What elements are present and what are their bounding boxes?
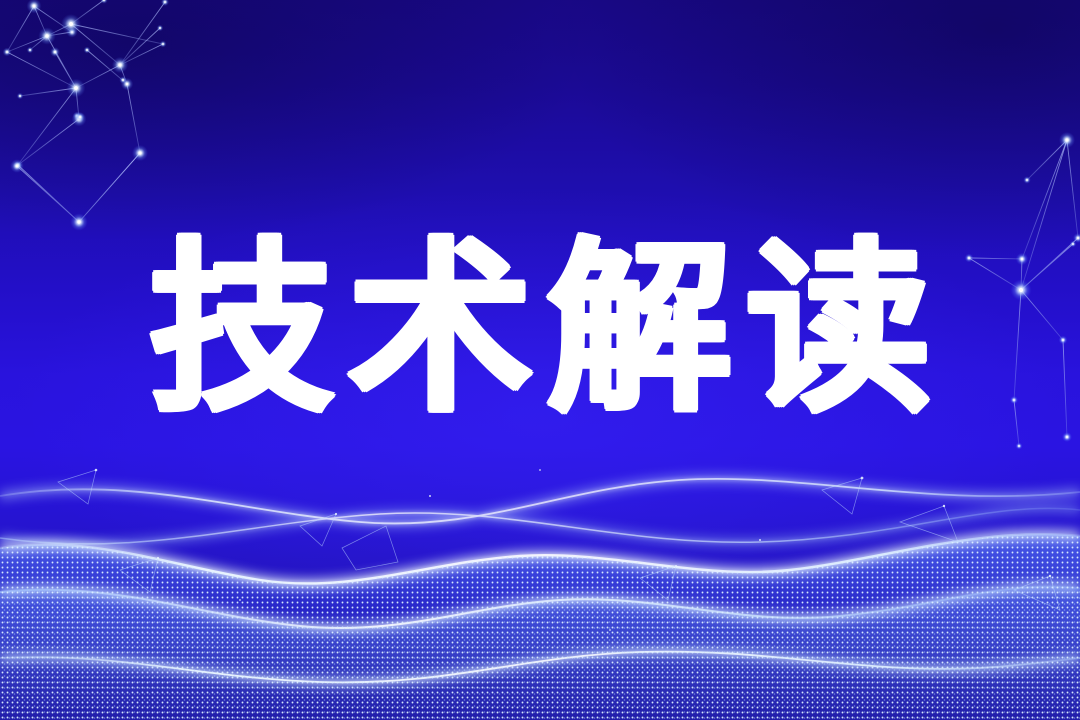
wave-field bbox=[0, 430, 1080, 720]
title-block: 技术解读 bbox=[0, 238, 1080, 423]
page-title: 技术解读 bbox=[135, 238, 945, 423]
poster-canvas: 技术解读 bbox=[0, 0, 1080, 720]
